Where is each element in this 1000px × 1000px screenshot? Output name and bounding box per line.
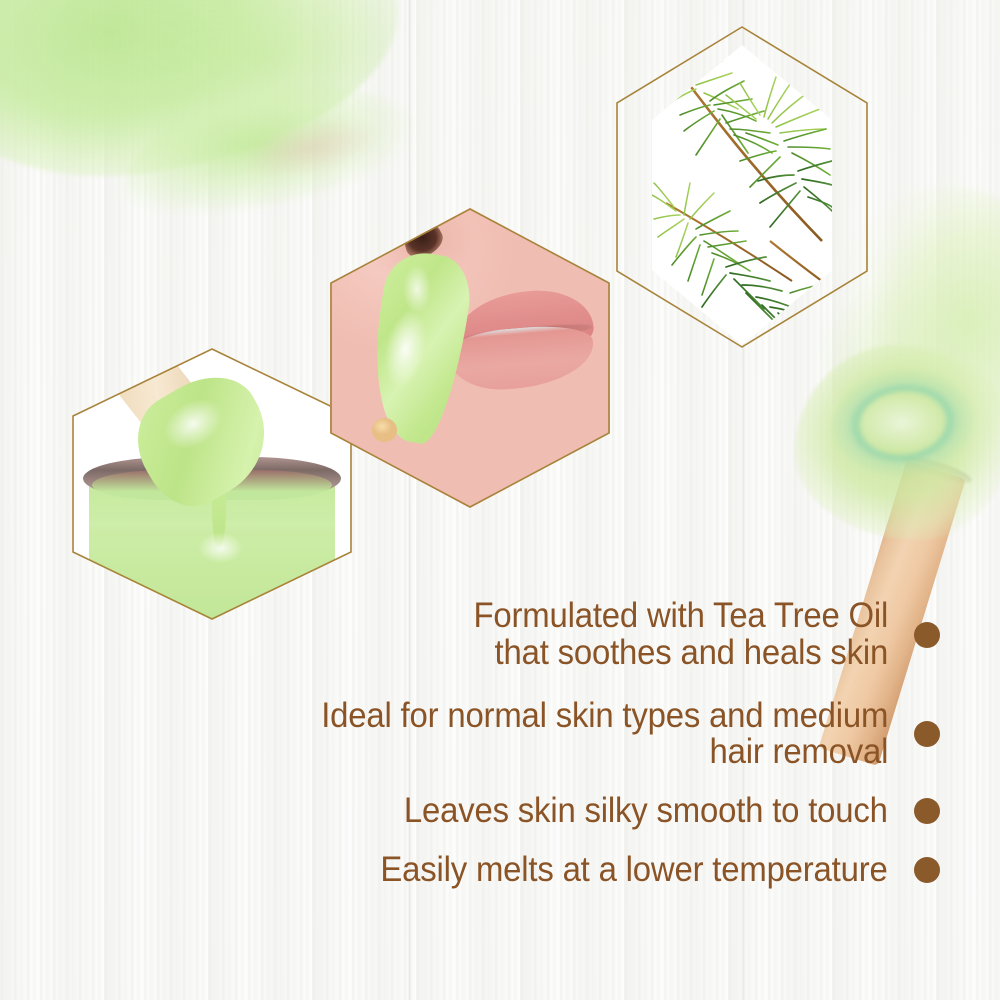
wax-pot-photo: [72, 348, 352, 620]
wax-drip-pool-icon: [198, 533, 243, 563]
wax-strip-highlight-icon: [403, 265, 431, 313]
wax-smear-pink-tint-icon: [228, 102, 397, 194]
hex-image-wax-application: [330, 208, 610, 508]
hex-image-tea-tree-branch: [652, 45, 832, 345]
feature-list: Formulated with Tea Tree Oil that soothe…: [60, 598, 940, 889]
applicator-stick-tip-icon: [372, 418, 397, 442]
feature-item: Formulated with Tea Tree Oil that soothe…: [60, 598, 940, 672]
feature-text: Easily melts at a lower temperature: [381, 852, 888, 889]
wax-smear-top-left-secondary-icon: [113, 67, 427, 228]
tea-tree-branch-photo: [652, 45, 832, 345]
face-closeup-photo: [330, 208, 610, 508]
hex-image-wax-pot: [72, 348, 352, 620]
wax-smear-top-left-icon: [0, 0, 414, 198]
feature-item: Ideal for normal skin types and medium h…: [60, 698, 940, 772]
wax-blob-gloss-icon: [855, 392, 965, 470]
wooden-spatula-tip-icon: [900, 452, 974, 488]
wax-blob-icon: [795, 345, 1000, 540]
wax-blob-teal-edge-icon: [823, 360, 984, 485]
bullet-dot-icon: [914, 622, 940, 648]
feature-item: Easily melts at a lower temperature: [60, 852, 940, 889]
bullet-dot-icon: [914, 798, 940, 824]
bullet-dot-icon: [914, 857, 940, 883]
feature-text: Leaves skin silky smooth to touch: [404, 793, 888, 830]
product-feature-banner: Formulated with Tea Tree Oil that soothe…: [0, 0, 1000, 1000]
bullet-dot-icon: [914, 721, 940, 747]
feature-item: Leaves skin silky smooth to touch: [60, 793, 940, 830]
feature-text: Formulated with Tea Tree Oil that soothe…: [473, 598, 888, 672]
feature-text: Ideal for normal skin types and medium h…: [321, 698, 888, 772]
